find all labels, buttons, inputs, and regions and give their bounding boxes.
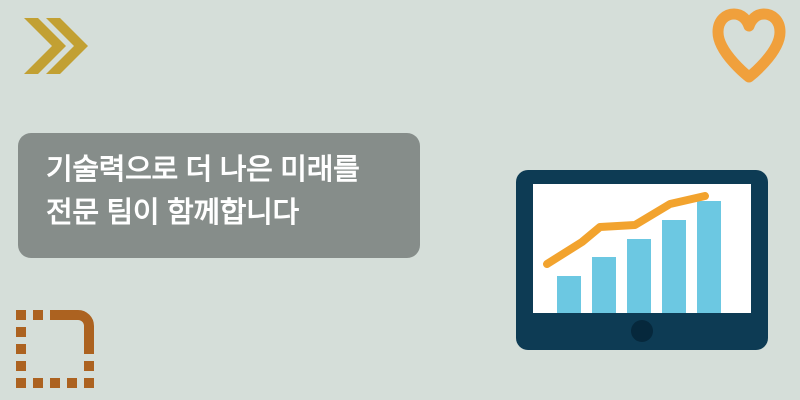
double-chevron-right-icon xyxy=(22,16,88,76)
chart-bar-5 xyxy=(697,201,721,313)
chart-bar-3 xyxy=(627,239,651,313)
tablet-chart-illustration xyxy=(516,170,768,350)
chart-bar-1 xyxy=(557,276,581,313)
tablet-home-button xyxy=(631,320,653,342)
headline-line-1: 기술력으로 더 나은 미래를 xyxy=(46,149,420,192)
promo-banner: 기술력으로 더 나은 미래를 전문 팀이 함께합니다 xyxy=(0,0,800,400)
heart-outline-icon xyxy=(710,8,788,84)
heart-stroke xyxy=(718,14,780,77)
dashed-rounded-corner-icon xyxy=(16,302,96,388)
chart-bar-4 xyxy=(662,220,686,313)
corner-badge-solid-elbow xyxy=(50,315,89,354)
headline-plate: 기술력으로 더 나은 미래를 전문 팀이 함께합니다 xyxy=(18,133,420,258)
headline-line-2: 전문 팀이 함께합니다 xyxy=(46,192,420,235)
chart-bar-2 xyxy=(592,257,616,313)
